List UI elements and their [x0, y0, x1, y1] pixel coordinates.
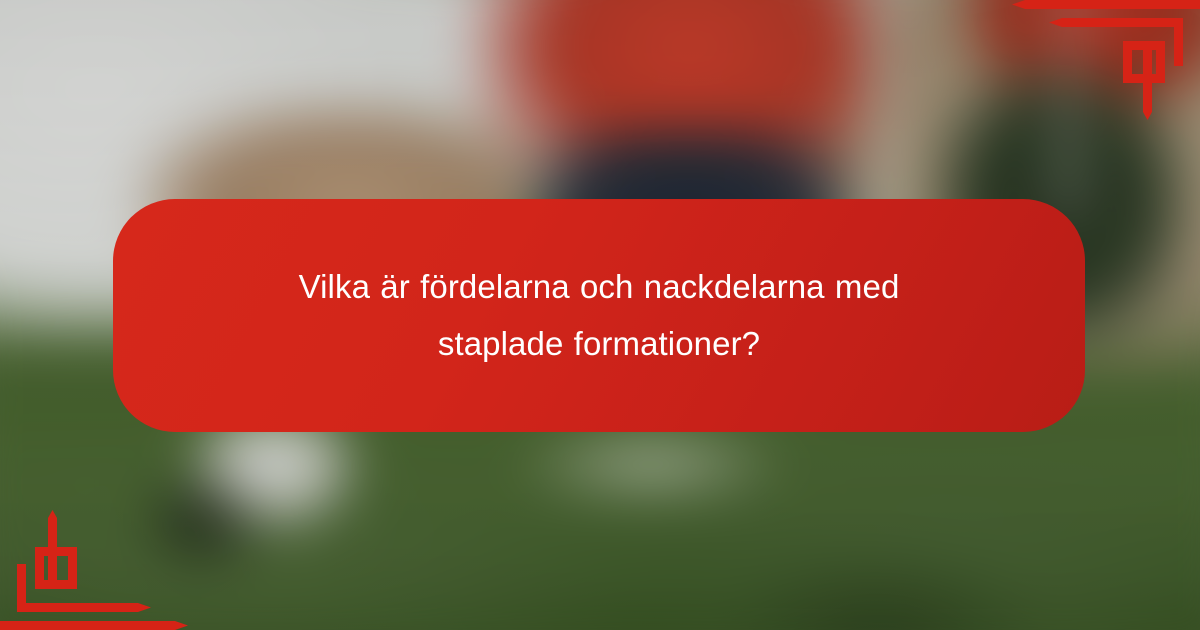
question-text: Vilka är fördelarna och nackdelarna med …: [239, 259, 959, 371]
question-banner: Vilka är fördelarna och nackdelarna med …: [113, 199, 1085, 432]
social-card: Vilka är fördelarna och nackdelarna med …: [0, 0, 1200, 630]
background-pole-blob-2: [1054, 0, 1082, 216]
background-boot-blob: [139, 471, 267, 570]
background-pitch-line-blob: [523, 429, 779, 500]
background-grass-blob-3: [728, 556, 1035, 630]
